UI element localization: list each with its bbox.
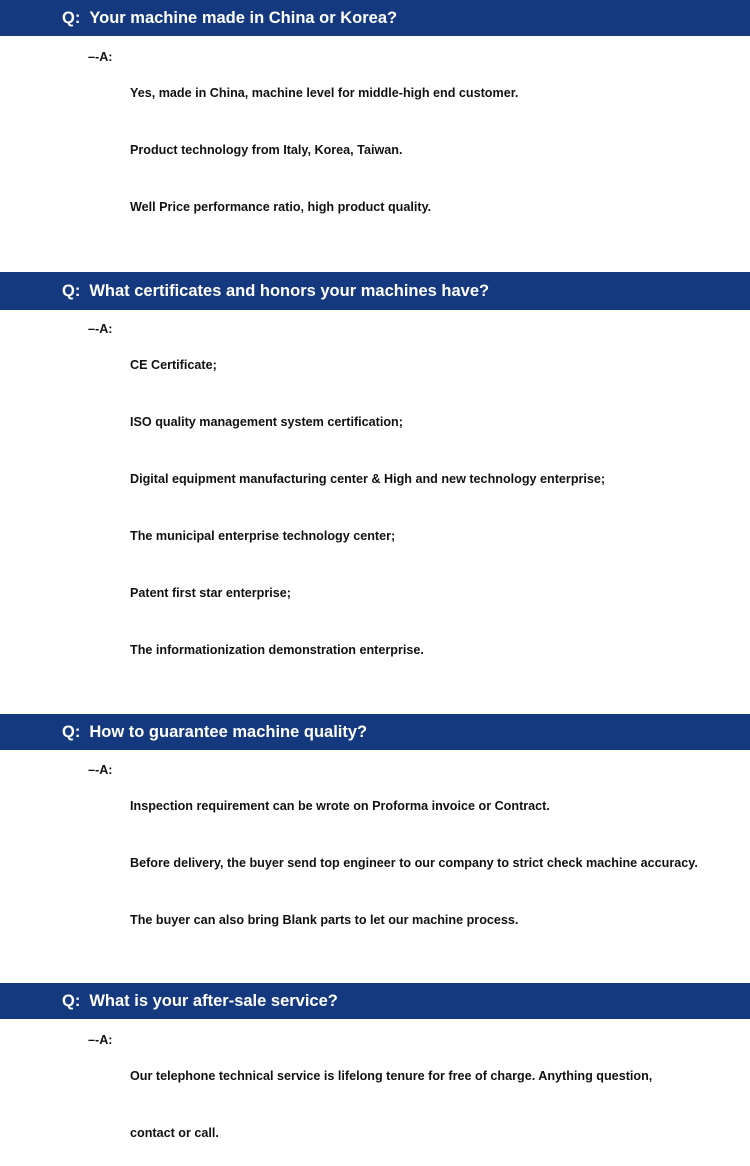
question-text: Your machine made in China or Korea? <box>89 10 397 27</box>
answer-line: CE Certificate; <box>130 355 750 376</box>
question-text: What is your after-sale service? <box>89 993 338 1010</box>
answer-line: The buyer can also bring Blank parts to … <box>130 910 750 931</box>
answer-area: –-A: Yes, made in China, machine level f… <box>0 36 750 254</box>
answer-line: The informationization demonstration ent… <box>130 640 750 661</box>
answer-prefix-label: –-A: <box>88 319 130 340</box>
answer-area: –-A: CE Certificate; ISO quality managem… <box>0 310 750 697</box>
answer-prefix-label: –-A: <box>88 760 130 781</box>
answer-area: –-A: Our telephone technical service is … <box>0 1019 750 1166</box>
question-banner: Q: What is your after-sale service? <box>0 983 750 1019</box>
question-banner: Q: How to guarantee machine quality? <box>0 714 750 750</box>
faq-page: Q: Your machine made in China or Korea? … <box>0 0 750 583</box>
question-prefix-label: Q: <box>62 724 80 741</box>
answer-line: contact or call. <box>130 1123 750 1144</box>
question-banner: Q: Your machine made in China or Korea? <box>0 0 750 36</box>
faq-item: Q: How to guarantee machine quality? –-A… <box>0 714 750 967</box>
question-text: What certificates and honors your machin… <box>89 283 489 300</box>
question-banner: Q: What certificates and honors your mac… <box>0 272 750 310</box>
question-prefix-label: Q: <box>62 283 80 300</box>
answer-lines: Our telephone technical service is lifel… <box>130 1030 750 1166</box>
answer-line: ISO quality management system certificat… <box>130 412 750 433</box>
answer-row: –-A: Our telephone technical service is … <box>88 1030 750 1166</box>
question-text: How to guarantee machine quality? <box>89 724 367 741</box>
answer-lines: CE Certificate; ISO quality management s… <box>130 319 750 697</box>
answer-line: Well Price performance ratio, high produ… <box>130 197 750 218</box>
answer-lines: Inspection requirement can be wrote on P… <box>130 760 750 967</box>
answer-line: Before delivery, the buyer send top engi… <box>130 853 750 874</box>
answer-line: Our telephone technical service is lifel… <box>130 1066 750 1087</box>
answer-line: The municipal enterprise technology cent… <box>130 526 750 547</box>
answer-line: Patent first star enterprise; <box>130 583 750 604</box>
faq-item: Q: Your machine made in China or Korea? … <box>0 0 750 254</box>
answer-area: –-A: Inspection requirement can be wrote… <box>0 750 750 967</box>
faq-item: Q: What is your after-sale service? –-A:… <box>0 983 750 1166</box>
answer-prefix-label: –-A: <box>88 1030 130 1051</box>
answer-row: –-A: Inspection requirement can be wrote… <box>88 760 750 967</box>
question-prefix-label: Q: <box>62 993 80 1010</box>
answer-line: Digital equipment manufacturing center &… <box>130 469 750 490</box>
answer-prefix-label: –-A: <box>88 47 130 68</box>
answer-row: –-A: Yes, made in China, machine level f… <box>88 47 750 254</box>
answer-lines: Yes, made in China, machine level for mi… <box>130 47 750 254</box>
answer-line: Yes, made in China, machine level for mi… <box>130 83 750 104</box>
answer-line: Product technology from Italy, Korea, Ta… <box>130 140 750 161</box>
faq-item: Q: What certificates and honors your mac… <box>0 272 750 697</box>
answer-line: Inspection requirement can be wrote on P… <box>130 796 750 817</box>
answer-row: –-A: CE Certificate; ISO quality managem… <box>88 319 750 697</box>
question-prefix-label: Q: <box>62 10 80 27</box>
